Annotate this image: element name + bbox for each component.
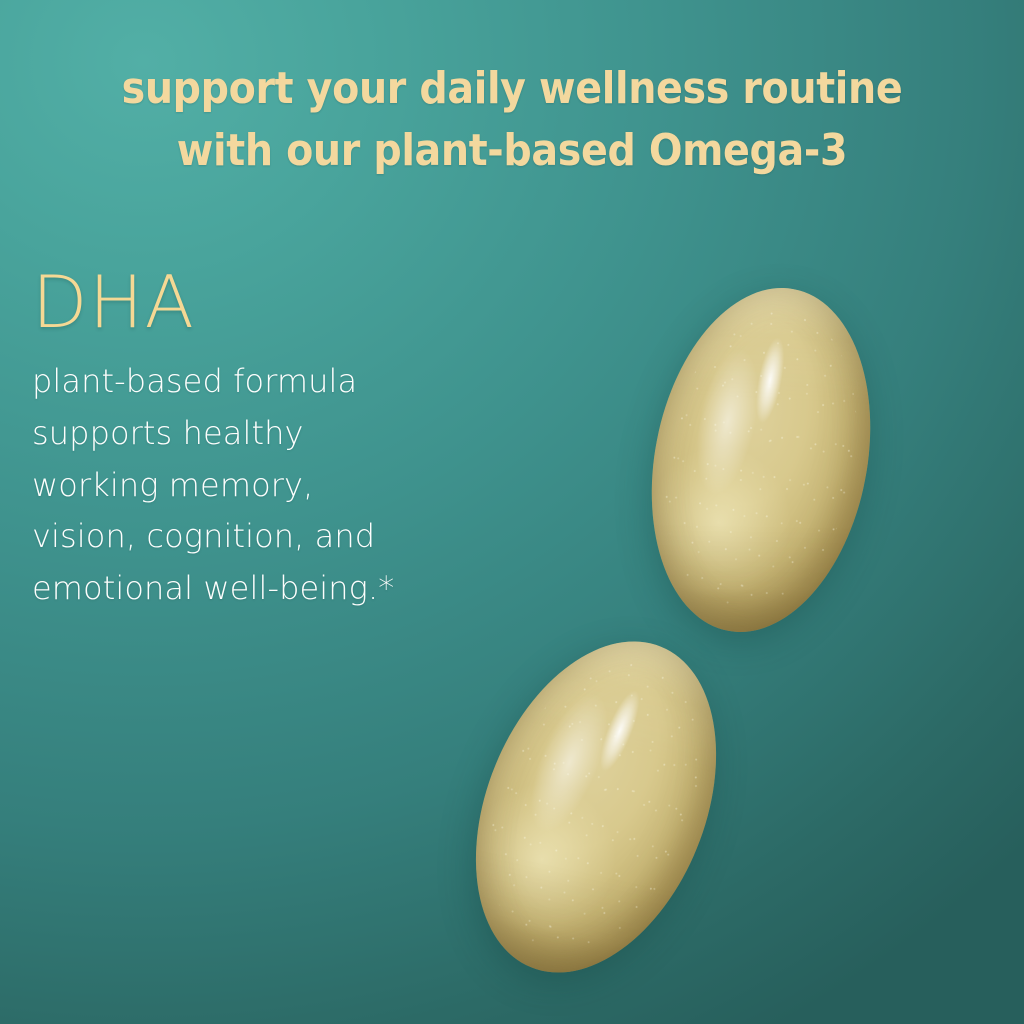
description-line-2: supports healthy: [32, 408, 502, 460]
ingredient-description: plant-based formula supports healthy wor…: [32, 356, 502, 615]
description-line-4: vision, cognition, and: [32, 511, 502, 563]
headline: support your daily wellness routine with…: [51, 58, 973, 183]
product-marketing-graphic: support your daily wellness routine with…: [0, 0, 1024, 1024]
ingredient-info-block: DHA plant-based formula supports healthy…: [32, 266, 502, 615]
description-line-5: emotional well-being.*: [32, 563, 502, 615]
upper-softgel-capsule: [624, 269, 899, 651]
headline-line-1: support your daily wellness routine: [51, 58, 973, 120]
headline-line-2: with our plant-based Omega-3: [51, 120, 973, 182]
lower-softgel-capsule: [430, 606, 762, 1008]
description-line-1: plant-based formula: [32, 356, 502, 408]
description-line-3: working memory,: [32, 460, 502, 512]
ingredient-title: DHA: [32, 266, 502, 338]
